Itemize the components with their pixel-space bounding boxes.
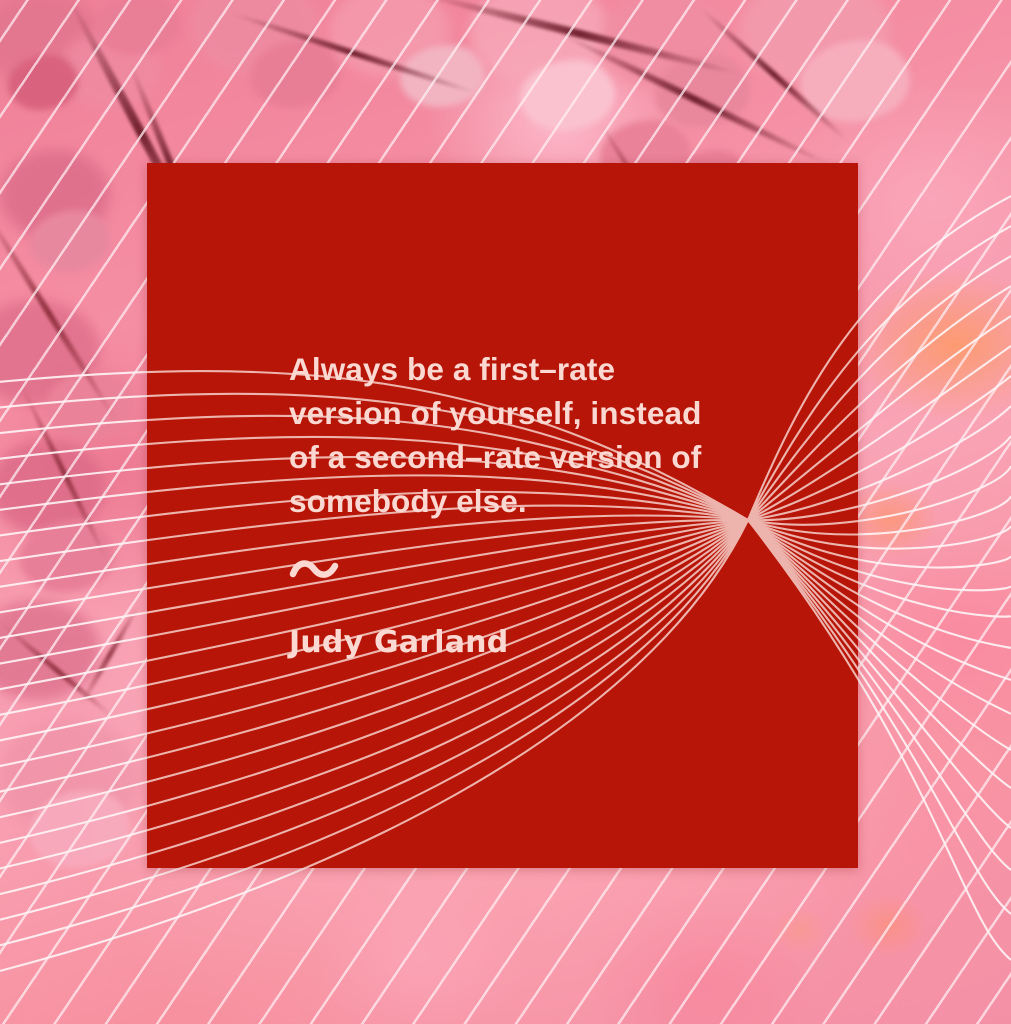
quote-card: Always be a first–rate version of yourse… — [147, 163, 858, 868]
quote-poster: Always be a first–rate version of yourse… — [0, 0, 1011, 1024]
quote-line-3: of a second–rate version of — [289, 435, 789, 479]
tilde-separator-icon — [289, 552, 349, 592]
quote-line-1: Always be a first–rate — [289, 347, 789, 391]
quote-line-4: somebody else. — [289, 479, 789, 523]
author-name: Judy Garland — [289, 625, 508, 660]
quote-line-2: version of yourself, instead — [289, 391, 789, 435]
quote-text: Always be a first–rate version of yourse… — [289, 347, 789, 523]
